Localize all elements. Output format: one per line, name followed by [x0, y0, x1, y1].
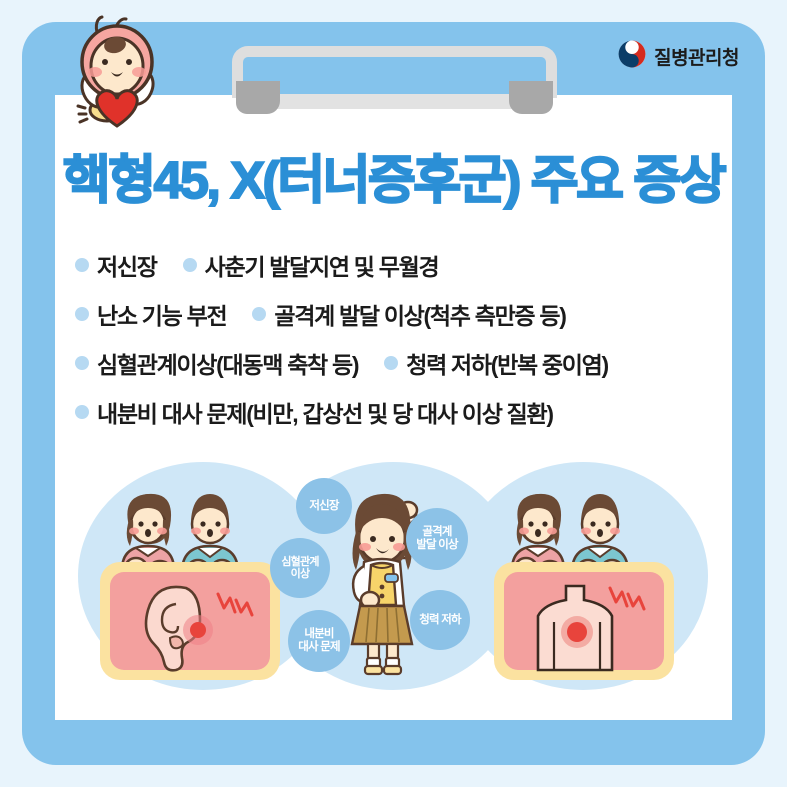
bullet-dot-icon — [384, 356, 398, 370]
bullet-dot-icon — [75, 405, 89, 419]
agency-logo: 질병관리청 — [618, 40, 739, 73]
symptom-label: 골격계 발달 이상(척추 측만증 등) — [274, 297, 565, 331]
bullet-dot-icon — [75, 356, 89, 370]
scene-cardiovascular — [458, 462, 708, 690]
symptom-bubble: 내분비 대사 문제 — [288, 610, 350, 672]
symptom-label: 내분비 대사 문제(비만, 갑상선 및 당 대사 이상 질환) — [97, 395, 553, 429]
illustration-band: 저신장 심혈관계 이상 내분비 대사 문제 골격계 발달 이상 — [78, 462, 708, 692]
bubble-line-1: 골격계 — [422, 526, 451, 538]
bubble-line-1: 심혈관계 — [281, 556, 318, 568]
symptom-row: 심혈관계이상(대동맥 축착 등) 청력 저하(반복 중이염) — [75, 338, 735, 387]
bullet-dot-icon — [75, 307, 89, 321]
agency-name: 질병관리청 — [654, 43, 739, 70]
symptom-bubble: 저신장 — [296, 478, 352, 534]
poster-root: 질병관리청 핵형45, X(터너증후군) 주요 증 — [0, 0, 787, 787]
symptom-label: 청력 저하(반복 중이염) — [406, 346, 608, 380]
symptom-list: 저신장 사춘기 발달지연 및 무월경 난소 기능 부전 골격계 발달 이상(척추… — [75, 240, 735, 436]
bubble-line-1: 저신장 — [309, 500, 338, 513]
bubble-lines: 심혈관계 이상 — [281, 556, 318, 581]
bullet-dot-icon — [75, 258, 89, 272]
bullet-dot-icon — [252, 307, 266, 321]
bubble-line-2: 이상 — [291, 568, 310, 580]
bubble-lines: 골격계 발달 이상 — [416, 526, 458, 552]
symptom-label: 저신장 — [97, 248, 157, 282]
bee-mascot-with-heart-icon — [62, 14, 172, 136]
symptom-row: 내분비 대사 문제(비만, 갑상선 및 당 대사 이상 질환) — [75, 387, 735, 436]
page-title: 핵형45, X(터너증후군) 주요 증상 — [0, 138, 787, 213]
symptom-label: 심혈관계이상(대동맥 축착 등) — [97, 346, 358, 380]
symptom-item: 심혈관계이상(대동맥 축착 등) — [75, 346, 358, 380]
symptom-bubble: 심혈관계 이상 — [270, 538, 330, 598]
symptom-item: 청력 저하(반복 중이염) — [384, 346, 608, 380]
bubble-line-1: 청력 저하 — [419, 614, 461, 627]
bubble-line-2: 대사 문제 — [298, 641, 340, 653]
symptom-row: 난소 기능 부전 골격계 발달 이상(척추 측만증 등) — [75, 289, 735, 338]
symptom-item: 사춘기 발달지연 및 무월경 — [183, 248, 439, 282]
symptom-label: 사춘기 발달지연 및 무월경 — [205, 248, 439, 282]
bubble-lines: 내분비 대사 문제 — [298, 628, 340, 654]
bubble-line-1: 내분비 — [304, 628, 333, 640]
taegeuk-icon — [618, 40, 646, 73]
symptom-item: 난소 기능 부전 — [75, 297, 226, 331]
symptom-item: 골격계 발달 이상(척추 측만증 등) — [252, 297, 565, 331]
clipboard-clip-icon — [232, 46, 557, 116]
bullet-dot-icon — [183, 258, 197, 272]
symptom-row: 저신장 사춘기 발달지연 및 무월경 — [75, 240, 735, 289]
symptom-item: 내분비 대사 문제(비만, 갑상선 및 당 대사 이상 질환) — [75, 395, 553, 429]
symptom-label: 난소 기능 부전 — [97, 297, 226, 331]
bubble-line-2: 발달 이상 — [416, 539, 458, 551]
symptom-item: 저신장 — [75, 248, 157, 282]
